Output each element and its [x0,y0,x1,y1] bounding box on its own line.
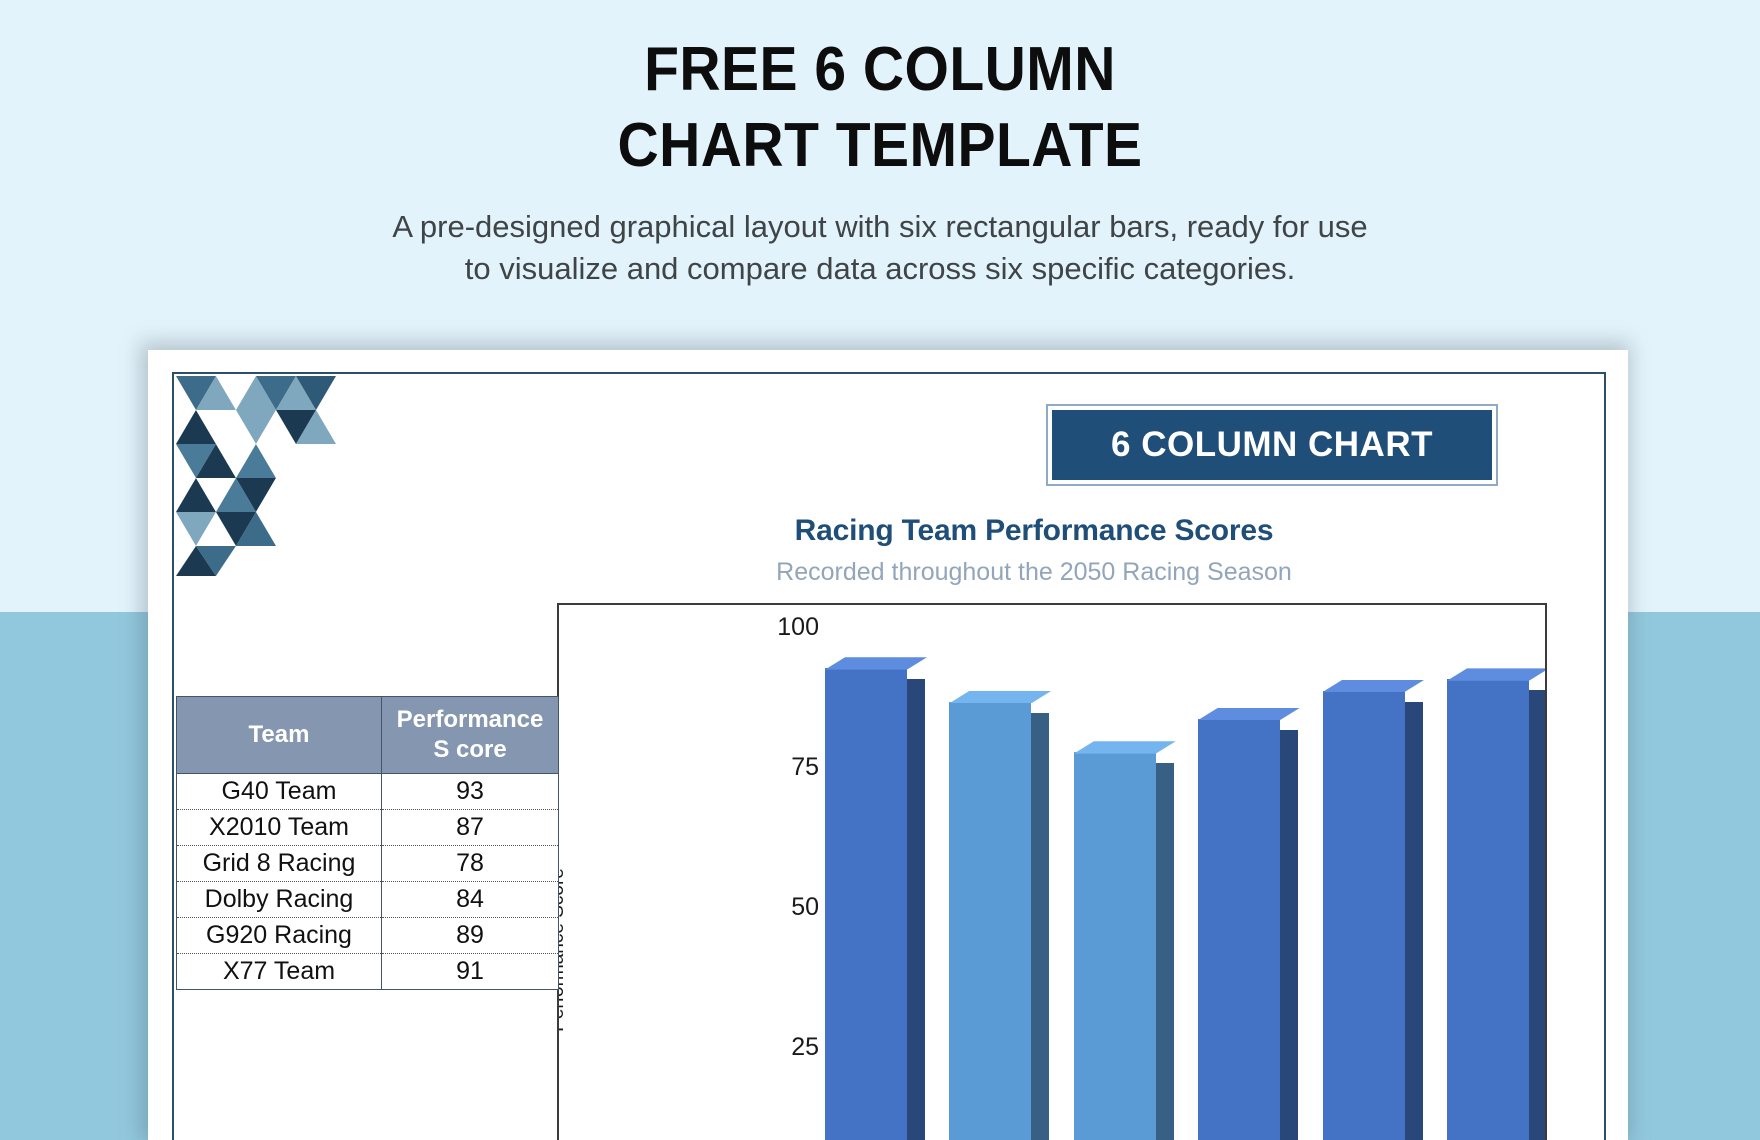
chart-type-badge: 6 COLUMN CHART [1048,406,1496,484]
promo-subtitle-line-1: A pre-designed graphical layout with six… [0,206,1760,248]
chart-heading: Racing Team Performance Scores Recorded … [534,514,1534,587]
bar-front-face [1323,691,1405,1140]
bar-front-face [1198,719,1280,1140]
bar-4 [1198,719,1280,1140]
triangle-mosaic-decoration [176,376,336,576]
y-axis-tick-100: 100 [699,613,819,642]
bar-side-face [1280,730,1298,1140]
promo-title-line-2: CHART TEMPLATE [70,108,1689,184]
bar-6 [1447,679,1529,1140]
bar-top-face [825,657,927,669]
bar-5 [1323,691,1405,1140]
bar-1 [825,668,907,1140]
table-cell-team: G920 Racing [177,918,382,954]
table-cell-team: X77 Team [177,954,382,990]
table-header-team: Team [177,697,382,774]
bar-side-face [1529,690,1547,1140]
bar-3 [1074,752,1156,1140]
table-cell-score: 89 [382,918,559,954]
chart-plot-area: Performance Score 100755025 [557,603,1547,1140]
promo-header: FREE 6 COLUMN CHART TEMPLATE A pre-desig… [0,0,1760,290]
bar-top-face [1447,668,1547,680]
bar-front-face [825,668,907,1140]
bar-series [825,605,1547,1140]
y-axis-tick-labels: 100755025 [589,605,819,1140]
bar-side-face [907,679,925,1140]
table-row[interactable]: G920 Racing89 [177,918,559,954]
bar-top-face [1323,680,1425,692]
table-row[interactable]: X2010 Team87 [177,810,559,846]
bar-front-face [1074,752,1156,1140]
table-cell-team: G40 Team [177,774,382,810]
promo-subtitle-line-2: to visualize and compare data across six… [0,248,1760,290]
bar-front-face [1447,679,1529,1140]
chart-type-badge-label: 6 COLUMN CHART [1111,425,1433,465]
y-axis-tick-50: 50 [699,893,819,922]
bar-2 [949,702,1031,1140]
bar-top-face [1074,741,1176,753]
table-row[interactable]: Grid 8 Racing78 [177,846,559,882]
document-card[interactable]: 6 COLUMN CHART Racing Team Performance S… [148,350,1628,1140]
bar-front-face [949,702,1031,1140]
table-row[interactable]: Dolby Racing84 [177,882,559,918]
table-row[interactable]: X77 Team91 [177,954,559,990]
bar-side-face [1156,763,1174,1140]
y-axis-tick-25: 25 [699,1033,819,1062]
promo-subtitle: A pre-designed graphical layout with six… [0,184,1760,290]
bar-side-face [1031,713,1049,1140]
table-cell-score: 91 [382,954,559,990]
table-cell-score: 84 [382,882,559,918]
bar-side-face [1405,702,1423,1140]
table-header-score: Performance S core [382,697,559,774]
table-cell-team: Dolby Racing [177,882,382,918]
promo-title: FREE 6 COLUMN CHART TEMPLATE [70,0,1689,184]
table-header-row: Team Performance S core [177,697,559,774]
table-cell-score: 93 [382,774,559,810]
bar-top-face [1198,708,1300,720]
table-cell-score: 78 [382,846,559,882]
table-row[interactable]: G40 Team93 [177,774,559,810]
chart-subtitle: Recorded throughout the 2050 Racing Seas… [534,548,1534,587]
y-axis-tick-75: 75 [699,753,819,782]
promo-title-line-1: FREE 6 COLUMN [70,32,1689,108]
table-cell-score: 87 [382,810,559,846]
document-inner-frame: 6 COLUMN CHART Racing Team Performance S… [172,372,1606,1140]
bar-top-face [949,691,1051,703]
data-table[interactable]: Team Performance S core G40 Team93X2010 … [176,696,559,990]
table-cell-team: Grid 8 Racing [177,846,382,882]
table-cell-team: X2010 Team [177,810,382,846]
chart-title: Racing Team Performance Scores [534,514,1534,548]
